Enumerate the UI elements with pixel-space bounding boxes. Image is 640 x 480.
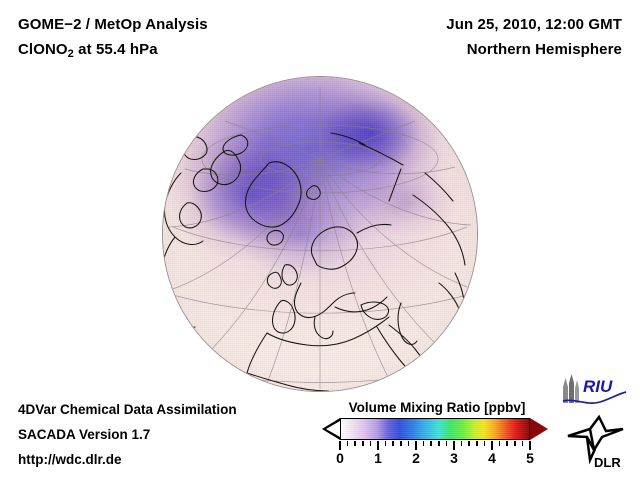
species-level: at 55.4 hPa <box>74 41 158 58</box>
colorbar-minor-tick <box>408 441 410 446</box>
page-title: GOME−2 / MetOp Analysis <box>18 16 208 33</box>
colorbar-gradient-bar <box>340 418 530 440</box>
colorbar-extend-high-arrow <box>530 418 548 440</box>
species-name: ClONO <box>18 41 68 58</box>
colorbar-tick-label: 4 <box>488 450 496 466</box>
version-label: SACADA Version 1.7 <box>18 427 150 442</box>
colorbar-major-tick <box>453 441 455 450</box>
dlr-logo: DLR <box>564 414 626 470</box>
colorbar-tick-label: 5 <box>526 450 534 466</box>
colorbar-ticks <box>340 441 530 450</box>
colorbar-dither-texture <box>341 419 529 439</box>
species-subtitle: ClONO2 at 55.4 hPa <box>18 41 158 58</box>
colorbar-tick-label: 0 <box>336 450 344 466</box>
colorbar-minor-tick <box>430 441 432 446</box>
colorbar-minor-tick <box>446 441 448 446</box>
colorbar-minor-tick <box>362 441 364 446</box>
colorbar-tick-label: 2 <box>412 450 420 466</box>
hemisphere-label: Northern Hemisphere <box>467 41 622 58</box>
colorbar-minor-tick <box>461 441 463 446</box>
colorbar-title: Volume Mixing Ratio [ppbv] <box>332 400 542 415</box>
dlr-wordmark: DLR <box>594 455 621 470</box>
colorbar-tick-label: 1 <box>374 450 382 466</box>
colorbar-minor-tick <box>370 441 372 446</box>
colorbar-minor-tick <box>438 441 440 446</box>
colorbar-minor-tick <box>354 441 356 446</box>
colorbar-minor-tick <box>385 441 387 446</box>
website-link[interactable]: http://wdc.dlr.de <box>18 452 122 467</box>
colorbar-major-tick <box>377 441 379 450</box>
colorbar-minor-tick <box>347 441 349 446</box>
dlr-mark-icon <box>568 417 623 460</box>
colorbar-minor-tick <box>476 441 478 446</box>
riu-wordmark: RIU <box>583 377 613 396</box>
colorbar[interactable] <box>318 418 552 442</box>
assimilation-label: 4DVar Chemical Data Assimilation <box>18 402 237 417</box>
riu-logo: RIU <box>560 372 628 406</box>
colorbar-tick-labels: 012345 <box>340 450 530 470</box>
colorbar-major-tick <box>491 441 493 450</box>
colorbar-major-tick <box>339 441 341 450</box>
colorbar-minor-tick <box>522 441 524 446</box>
colorbar-minor-tick <box>499 441 501 446</box>
colorbar-minor-tick <box>514 441 516 446</box>
colorbar-minor-tick <box>392 441 394 446</box>
colorbar-extend-low-fill <box>326 421 340 437</box>
limb-shading <box>163 77 477 391</box>
colorbar-major-tick <box>529 441 531 450</box>
globe-sphere <box>163 77 477 391</box>
colorbar-minor-tick <box>468 441 470 446</box>
colorbar-minor-tick <box>484 441 486 446</box>
colorbar-minor-tick <box>400 441 402 446</box>
colorbar-tick-label: 3 <box>450 450 458 466</box>
species-subscript: 2 <box>68 48 74 60</box>
riu-tower-icon <box>563 374 579 403</box>
globe-map[interactable] <box>163 77 477 391</box>
colorbar-major-tick <box>415 441 417 450</box>
colorbar-minor-tick <box>423 441 425 446</box>
datetime-label: Jun 25, 2010, 12:00 GMT <box>446 16 622 33</box>
colorbar-minor-tick <box>506 441 508 446</box>
